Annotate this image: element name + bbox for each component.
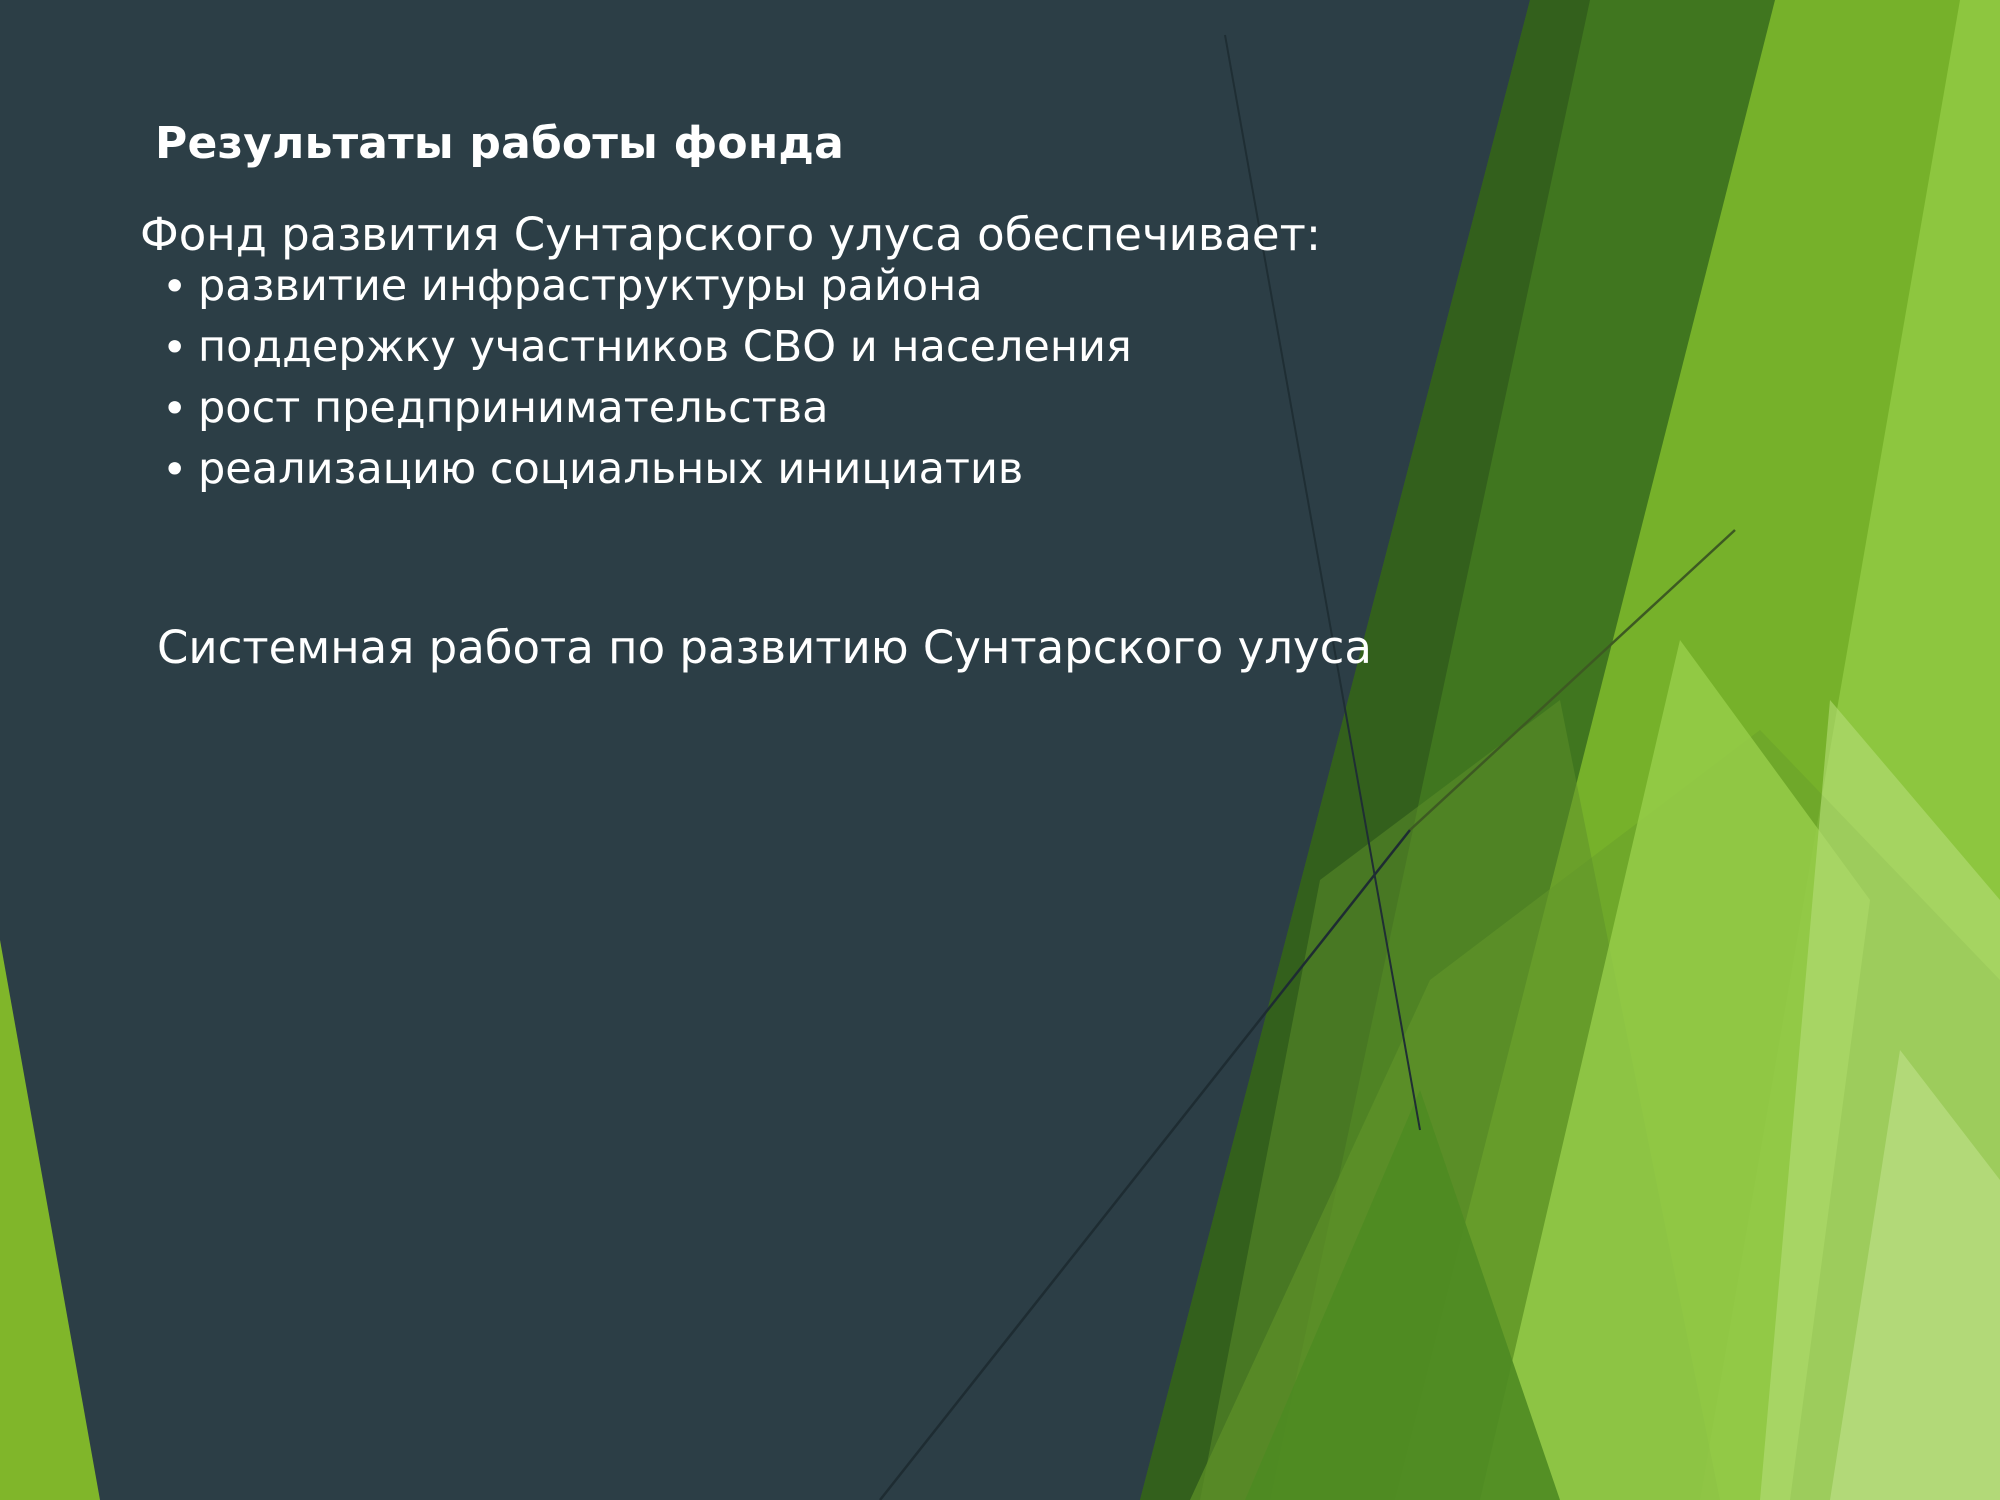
bullet-point-icon: •: [162, 327, 187, 370]
bullet-list: • развитие инфраструктуры района • подде…: [140, 265, 1420, 491]
page-title: Результаты работы фонда: [155, 118, 844, 169]
list-item: • рост предпринимательства: [140, 387, 1420, 430]
intro-paragraph: Фонд развития Сунтарского улуса обеспечи…: [140, 212, 1420, 257]
list-item: • развитие инфраструктуры района: [140, 265, 1420, 308]
list-item: • реализацию социальных инициатив: [140, 448, 1420, 491]
bullet-point-icon: •: [162, 388, 187, 431]
list-item: • поддержку участников СВО и населения: [140, 326, 1420, 369]
closing-paragraph: Системная работа по развитию Сунтарского…: [157, 625, 1372, 670]
body-text-block: Фонд развития Сунтарского улуса обеспечи…: [140, 212, 1420, 509]
bullet-point-icon: •: [162, 449, 187, 492]
list-item-label: рост предпринимательства: [198, 383, 828, 433]
list-item-label: поддержку участников СВО и населения: [198, 322, 1132, 372]
presentation-slide: Результаты работы фонда Фонд развития Су…: [0, 0, 2000, 1500]
bullet-point-icon: •: [162, 266, 187, 309]
slide-content: Результаты работы фонда Фонд развития Су…: [0, 0, 1450, 1500]
list-item-label: развитие инфраструктуры района: [198, 261, 983, 311]
list-item-label: реализацию социальных инициатив: [198, 444, 1023, 494]
